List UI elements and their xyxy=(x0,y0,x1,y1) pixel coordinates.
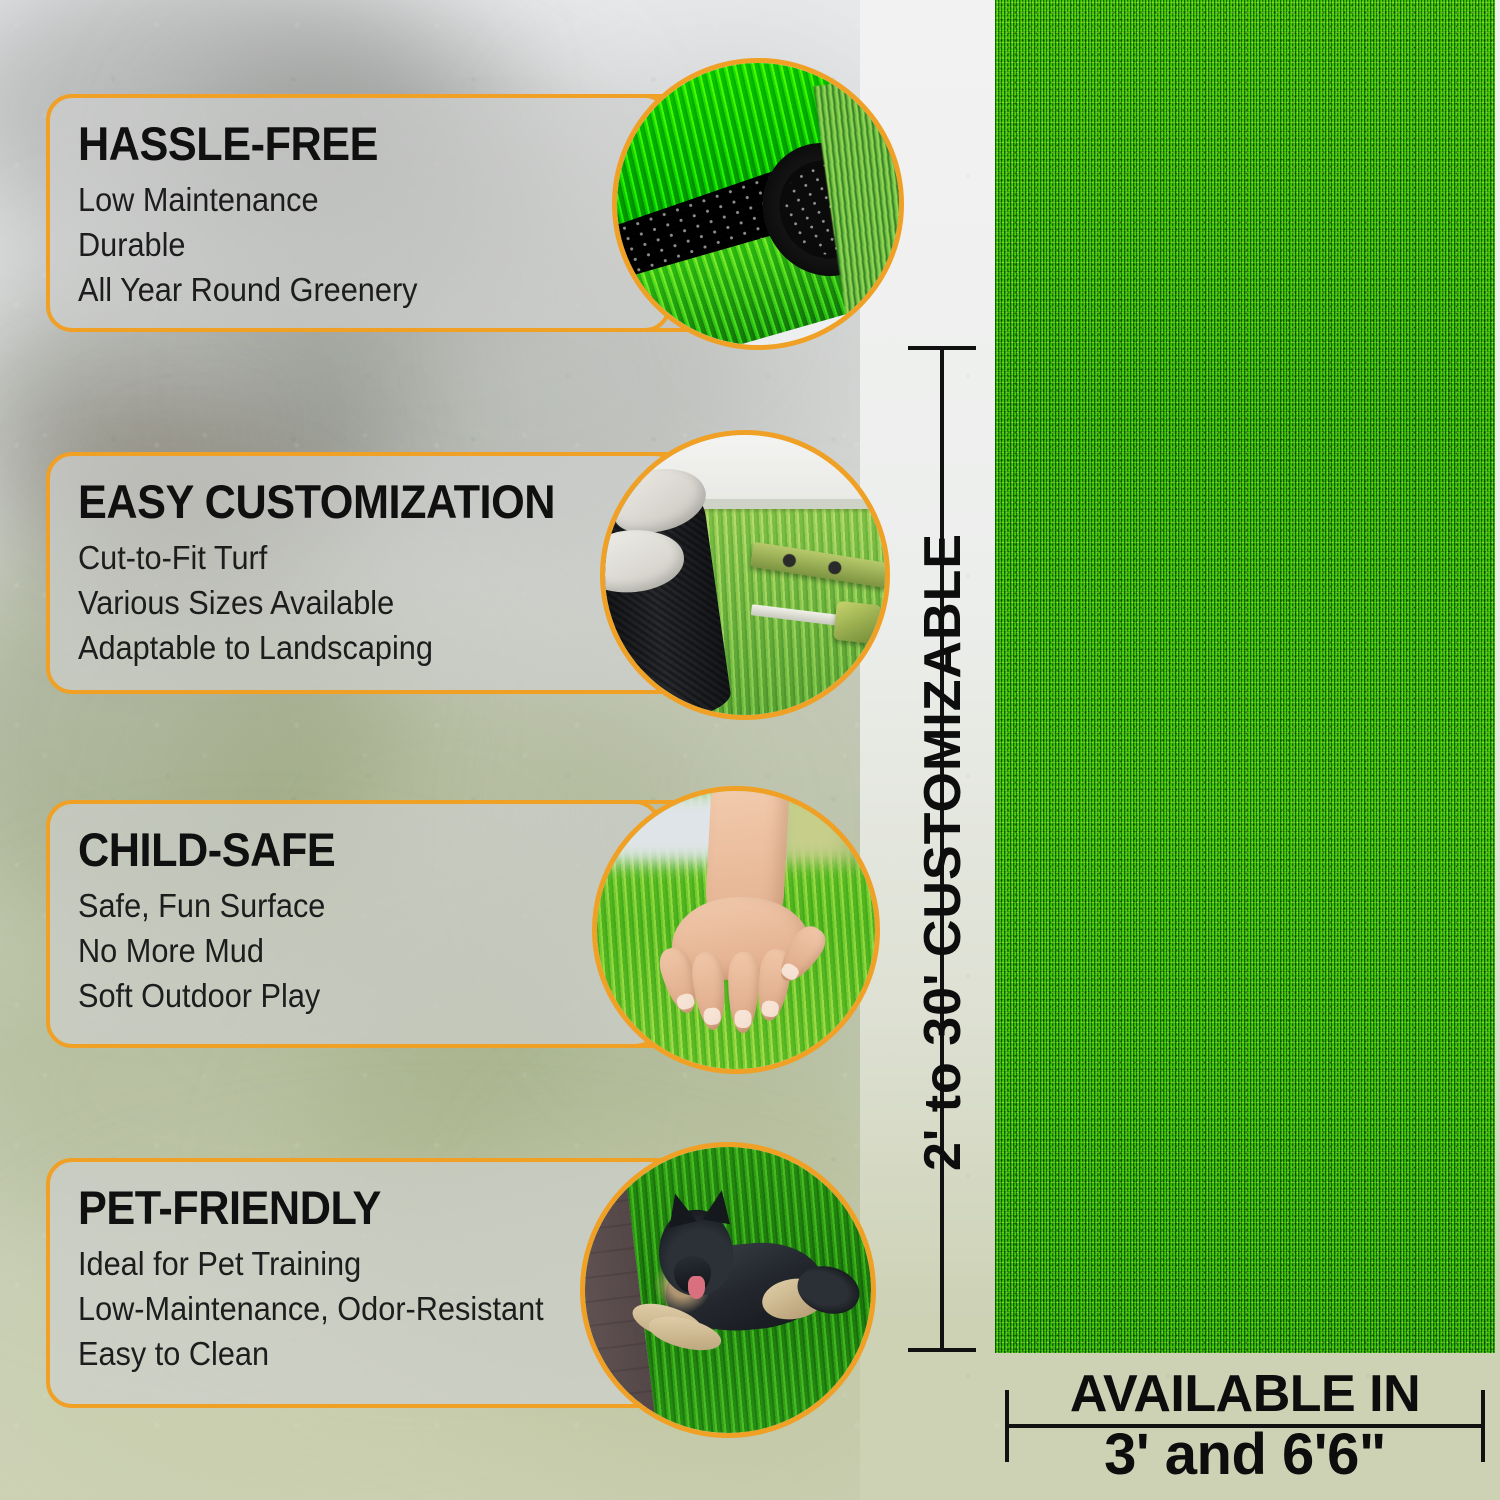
feature-card-hassle-free: HASSLE-FREE Low Maintenance Durable All … xyxy=(46,94,671,332)
fingernail xyxy=(675,992,695,1011)
feature-bullet: Safe, Fun Surface xyxy=(78,883,616,928)
feature-bullet: Low Maintenance xyxy=(78,177,626,222)
available-in-text: AVAILABLE IN xyxy=(995,1368,1495,1420)
feature-bullet: Durable xyxy=(78,222,626,267)
width-dimension-label: AVAILABLE IN 3' and 6'6" xyxy=(995,1368,1495,1485)
feature-photo-child-hand xyxy=(592,786,880,1074)
feature-card-easy-customization: EASY CUSTOMIZATION Cut-to-Fit Turf Vario… xyxy=(46,452,681,694)
feature-bullet: Ideal for Pet Training xyxy=(78,1241,630,1286)
feature-bullet: Adaptable to Landscaping xyxy=(78,625,635,670)
fingernail xyxy=(761,1000,780,1018)
feature-bullet: No More Mud xyxy=(78,928,616,973)
feature-title: PET-FRIENDLY xyxy=(78,1184,624,1231)
feature-photo-installation xyxy=(600,430,890,720)
available-sizes-text: 3' and 6'6" xyxy=(995,1424,1495,1485)
feature-bullet-list: Low Maintenance Durable All Year Round G… xyxy=(78,177,667,313)
feature-bullet: Low-Maintenance, Odor-Resistant xyxy=(78,1286,630,1331)
tape-measure-case xyxy=(833,601,882,645)
dog-ear xyxy=(703,1188,736,1224)
feature-bullet: Soft Outdoor Play xyxy=(78,973,616,1018)
feature-bullet: Easy to Clean xyxy=(78,1331,630,1376)
length-dimension-text: 2' to 30' CUSTOMIZABLE xyxy=(913,533,973,1171)
fingernail xyxy=(703,1007,722,1026)
feature-bullet: Cut-to-Fit Turf xyxy=(78,535,635,580)
feature-bullet: All Year Round Greenery xyxy=(78,267,626,312)
feature-title: HASSLE-FREE xyxy=(78,120,620,167)
feature-title: EASY CUSTOMIZATION xyxy=(78,478,629,525)
dimension-tick-bottom xyxy=(908,1348,976,1352)
feature-title: CHILD-SAFE xyxy=(78,826,611,873)
turf-roll-product-swatch xyxy=(995,0,1495,1353)
feature-photo-dog xyxy=(580,1142,876,1438)
feature-photo-turf-roll xyxy=(612,58,904,350)
fingernail xyxy=(734,1010,751,1028)
feature-bullet-list: Cut-to-Fit Turf Various Sizes Available … xyxy=(78,535,677,671)
length-dimension-label: 2' to 30' CUSTOMIZABLE xyxy=(903,372,983,1332)
feature-card-child-safe: CHILD-SAFE Safe, Fun Surface No More Mud… xyxy=(46,800,661,1048)
dog-tongue xyxy=(688,1276,705,1299)
feature-bullet-list: Safe, Fun Surface No More Mud Soft Outdo… xyxy=(78,883,657,1019)
feature-bullet: Various Sizes Available xyxy=(78,580,635,625)
infographic-canvas: HASSLE-FREE Low Maintenance Durable All … xyxy=(0,0,1500,1500)
